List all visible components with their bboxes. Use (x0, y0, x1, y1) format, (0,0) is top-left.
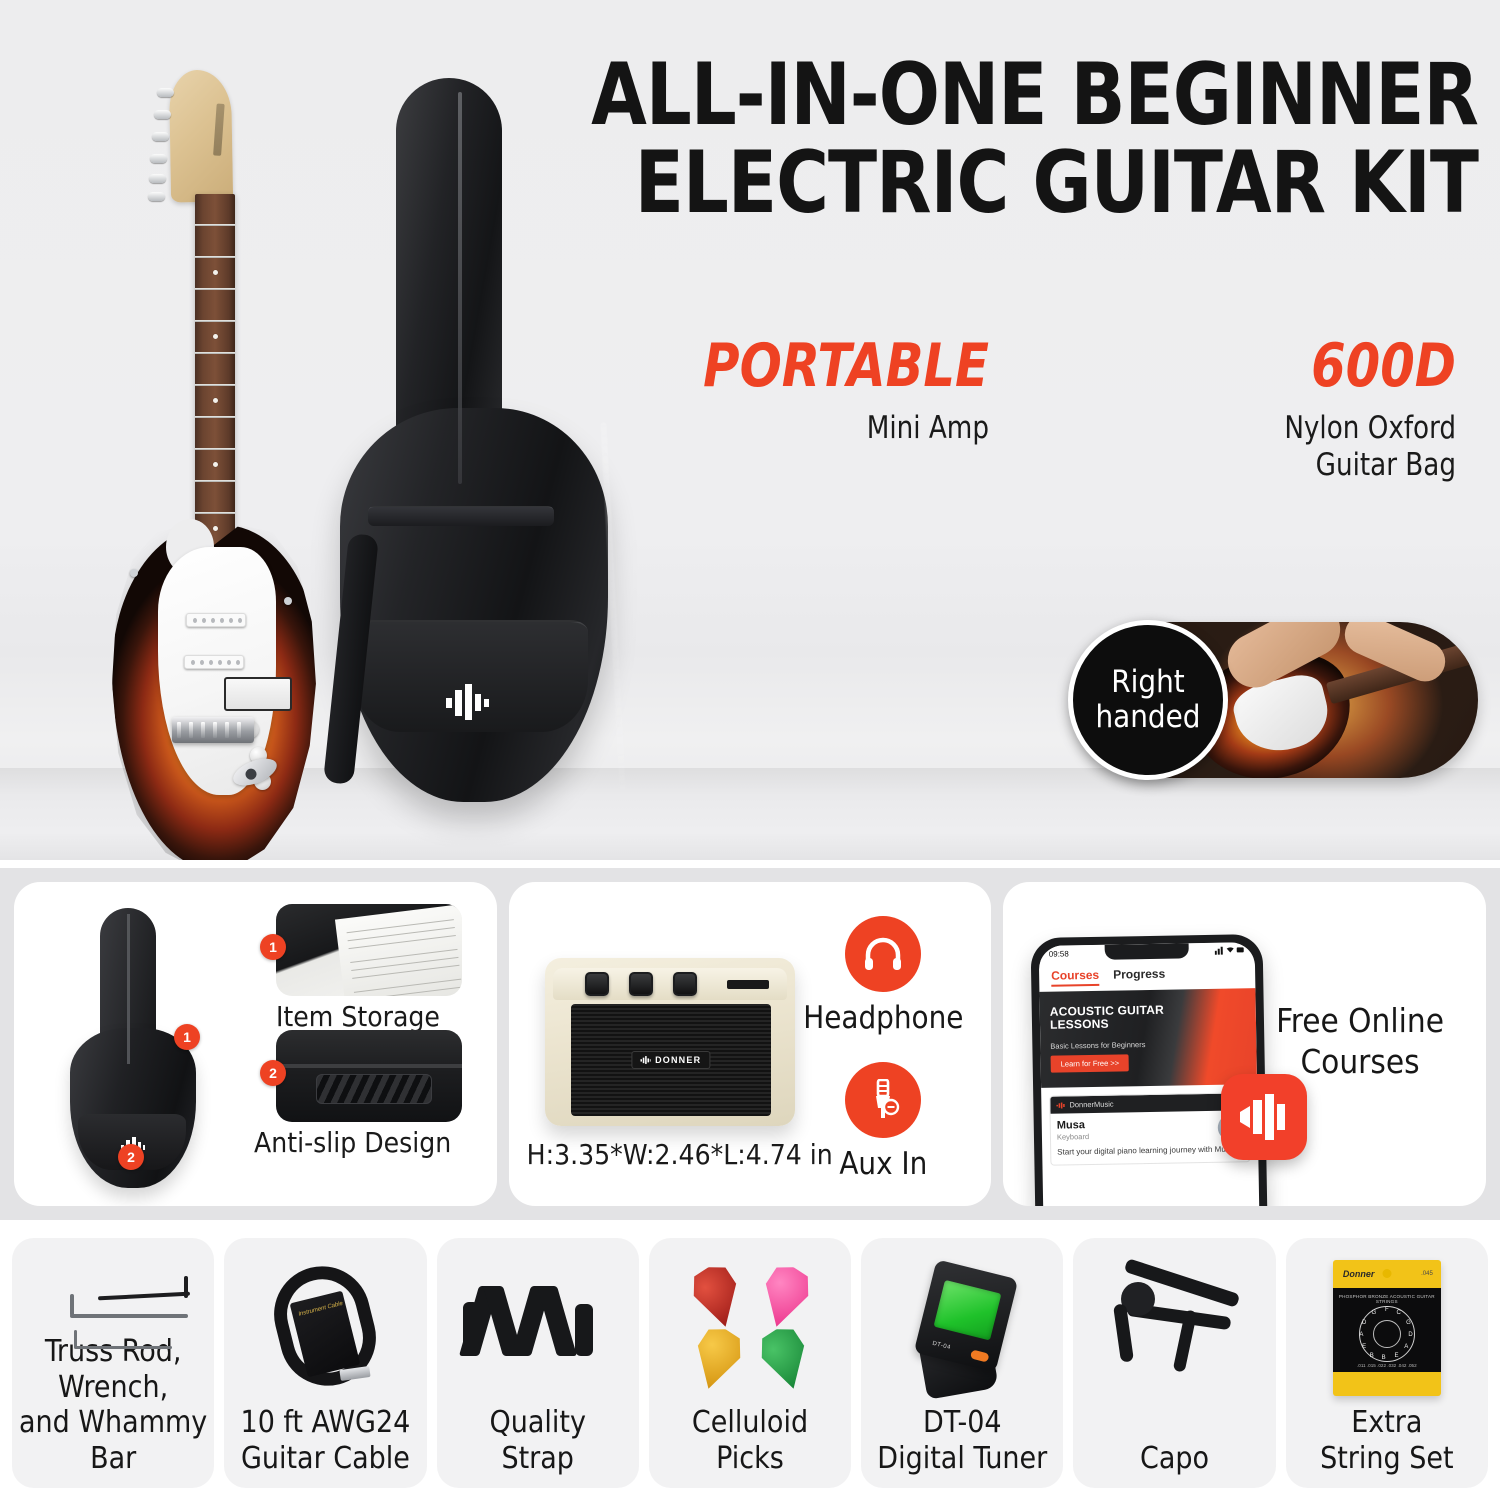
string-pack-sku: .045 (1421, 1271, 1433, 1277)
amp-io-icons: Headphone Aux In (793, 916, 973, 1182)
guitar-strap-icon (437, 1252, 639, 1400)
phone-tab-bar[interactable]: Courses Progress (1039, 959, 1255, 990)
accessory-label: DT-04 Digital Tuner (873, 1405, 1051, 1476)
tuner-peg (150, 154, 167, 163)
bag-thumb-zipper (127, 914, 130, 1064)
headphone-label: Headphone (793, 1000, 973, 1036)
accessory-guitar-cable: Instrument Cable 10 ft AWG24 Guitar Cabl… (224, 1238, 426, 1488)
accessory-tuner: DT-04 DT-04 Digital Tuner (861, 1238, 1063, 1488)
cable-tag-text: Instrument Cable (298, 1301, 344, 1318)
amp-knob-2 (629, 972, 653, 996)
single-coil-pickup (186, 613, 246, 627)
aux-in-label: Aux In (793, 1146, 973, 1182)
right-handed-badge-label: Right handed (1095, 665, 1200, 734)
hero-feature-row: PORTABLE Mini Amp 600D Nylon Oxford Guit… (640, 336, 1480, 484)
electric-guitar-image (112, 70, 332, 810)
course-item-description: Start your digital piano learning journe… (1057, 1144, 1243, 1158)
callout-marker-2: 2 (118, 1144, 144, 1170)
right-handed-badge: Right handed (1068, 620, 1228, 780)
course-item-role: Keyboard (1057, 1129, 1243, 1141)
accessory-strap: Quality Strap (437, 1238, 639, 1488)
accessory-label: Extra String Set (1316, 1405, 1457, 1476)
amp-dimensions-label: H:3.35*W:2.46*L:4.74 in (527, 1138, 837, 1171)
amp-brand-label: DONNER (655, 1055, 701, 1065)
course-card-body: Musa Keyboard Start your digital piano l… (1051, 1110, 1250, 1164)
guitar-picks-icon (649, 1252, 851, 1400)
fret (195, 480, 235, 482)
item-storage-label: Item Storage (276, 1002, 440, 1033)
string-pack-brand: Donner (1343, 1269, 1375, 1279)
fret-marker-dot (213, 398, 218, 403)
feature-portable: PORTABLE Mini Amp (640, 336, 1107, 484)
hero-title-line-1: ALL-IN-ONE BEGINNER (567, 52, 1478, 140)
phone-status-icons (1215, 945, 1245, 957)
tuner-peg (152, 132, 169, 141)
course-card-brand: DonnerMusic (1070, 1100, 1114, 1110)
fret (195, 320, 235, 322)
strap-pin (130, 569, 138, 577)
tremolo-bridge (172, 717, 254, 743)
guitar-body (112, 525, 318, 860)
fret (195, 512, 235, 514)
accessory-label: Celluloid Picks (688, 1405, 812, 1476)
fret (195, 256, 235, 258)
fret (195, 448, 235, 450)
fret (195, 224, 235, 226)
banner-subtitle: Basic Lessons for Beginners (1051, 1040, 1146, 1051)
tab-courses[interactable]: Courses (1051, 968, 1099, 987)
callout-badge-1: 1 (260, 934, 286, 960)
amp-knob-3 (673, 972, 697, 996)
headphone-icon (845, 916, 921, 992)
hero-title-line-2: ELECTRIC GUITAR KIT (567, 140, 1478, 228)
strap-pin (284, 597, 292, 605)
feature-card-row: 1 2 1 Item Storage 2 Anti-slip Design (0, 868, 1500, 1220)
accessory-row: Truss Rod, Wrench, and Whammy Bar Instru… (0, 1232, 1500, 1498)
fret-marker-dot (213, 334, 218, 339)
donner-waveform-logo-icon (1057, 1102, 1066, 1108)
card-mini-amp: DONNER H:3.35*W:2.46*L:4.74 in Headphone (509, 882, 992, 1206)
guitar-fretboard (195, 194, 235, 560)
amp-cabinet: DONNER (545, 958, 795, 1126)
tab-progress[interactable]: Progress (1113, 967, 1165, 982)
guitar-headstock (169, 69, 233, 202)
fret (195, 416, 235, 418)
sheet-music (335, 904, 462, 996)
feature-600d-headline: 600D (1135, 336, 1456, 396)
accessory-label: Capo (1136, 1441, 1213, 1476)
gig-bag-handle (368, 506, 554, 526)
learn-for-free-button[interactable]: Learn for Free >> (1051, 1054, 1130, 1072)
accessory-label: Quality Strap (485, 1405, 589, 1476)
amp-knob-1 (585, 972, 609, 996)
circle-of-fifths: F C G D A E B B E A D G (1359, 1306, 1415, 1362)
courses-banner[interactable]: ACOUSTIC GUITAR LESSONS Basic Lessons fo… (1040, 988, 1258, 1088)
capo-icon (1073, 1252, 1275, 1400)
feature-portable-headline: PORTABLE (668, 336, 989, 396)
fret (195, 384, 235, 386)
gig-bag-thumbnail: 1 2 (70, 908, 208, 1176)
accessory-label: 10 ft AWG24 Guitar Cable (237, 1405, 415, 1476)
feature-600d-sub: Nylon Oxford Guitar Bag (1128, 410, 1456, 484)
accessory-truss-rod-wrench: Truss Rod, Wrench, and Whammy Bar (12, 1238, 214, 1488)
donner-waveform-logo-icon (444, 682, 490, 722)
wrench-set-icon (12, 1252, 214, 1400)
fret-marker-dot (213, 462, 218, 467)
fret (195, 352, 235, 354)
fret-marker-dot (213, 270, 218, 275)
amp-vent-slot (727, 980, 769, 989)
gig-bag-zipper (458, 92, 462, 484)
single-coil-pickup (184, 655, 244, 669)
accessory-strings: Donner .045 PHOSPHOR BRONZE ACOUSTIC GUI… (1286, 1238, 1488, 1488)
product-infographic: ALL-IN-ONE BEGINNER ELECTRIC GUITAR KIT … (0, 0, 1500, 1498)
amp-speaker-grille: DONNER (571, 1004, 771, 1116)
humbucker-pickup (224, 677, 292, 711)
string-pack-icon: Donner .045 PHOSPHOR BRONZE ACOUSTIC GUI… (1286, 1252, 1488, 1400)
card-gig-bag: 1 2 1 Item Storage 2 Anti-slip Design (14, 882, 497, 1206)
mini-amp-image: DONNER (545, 936, 795, 1126)
donner-app-icon[interactable] (1221, 1074, 1307, 1160)
aux-in-icon (845, 1062, 921, 1138)
anti-slip-grip-pad (316, 1074, 432, 1104)
accessory-capo: Capo (1073, 1238, 1275, 1488)
callout-marker-1: 1 (174, 1024, 200, 1050)
amp-brand-badge: DONNER (631, 1051, 710, 1069)
feature-600d: 600D Nylon Oxford Guitar Bag (1107, 336, 1480, 484)
phone-notch (1105, 943, 1189, 959)
tuner-peg (157, 88, 174, 97)
tuner-peg (149, 174, 166, 183)
hero-section: ALL-IN-ONE BEGINNER ELECTRIC GUITAR KIT … (0, 0, 1500, 860)
callout-badge-2: 2 (260, 1060, 286, 1086)
anti-slip-label: Anti-slip Design (254, 1128, 451, 1159)
tuner-peg (154, 110, 171, 119)
phone-clock: 09:58 (1049, 949, 1069, 958)
tuner-peg (148, 192, 165, 201)
phone-mockup: 09:58 Courses (1031, 934, 1268, 1206)
clip-tuner-icon: DT-04 (861, 1252, 1063, 1400)
free-courses-label: Free Online Courses (1260, 1000, 1460, 1083)
donner-waveform-logo-icon (640, 1056, 651, 1064)
item-storage-photo (276, 904, 462, 996)
phone-screen: 09:58 Courses (1039, 942, 1260, 1206)
card-free-courses: 09:58 Courses (1003, 882, 1486, 1206)
banner-title: ACOUSTIC GUITAR LESSONS (1050, 1004, 1165, 1032)
amp-top-panel (553, 968, 787, 1000)
guitar-cable-icon: Instrument Cable (224, 1252, 426, 1400)
feature-portable-sub: Mini Amp (661, 410, 989, 447)
tuner-model-label: DT-04 (932, 1341, 952, 1351)
accessory-picks: Celluloid Picks (649, 1238, 851, 1488)
fret (195, 288, 235, 290)
hero-title: ALL-IN-ONE BEGINNER ELECTRIC GUITAR KIT (567, 52, 1478, 227)
gig-bag-body (340, 408, 608, 802)
anti-slip-photo (276, 1030, 462, 1122)
